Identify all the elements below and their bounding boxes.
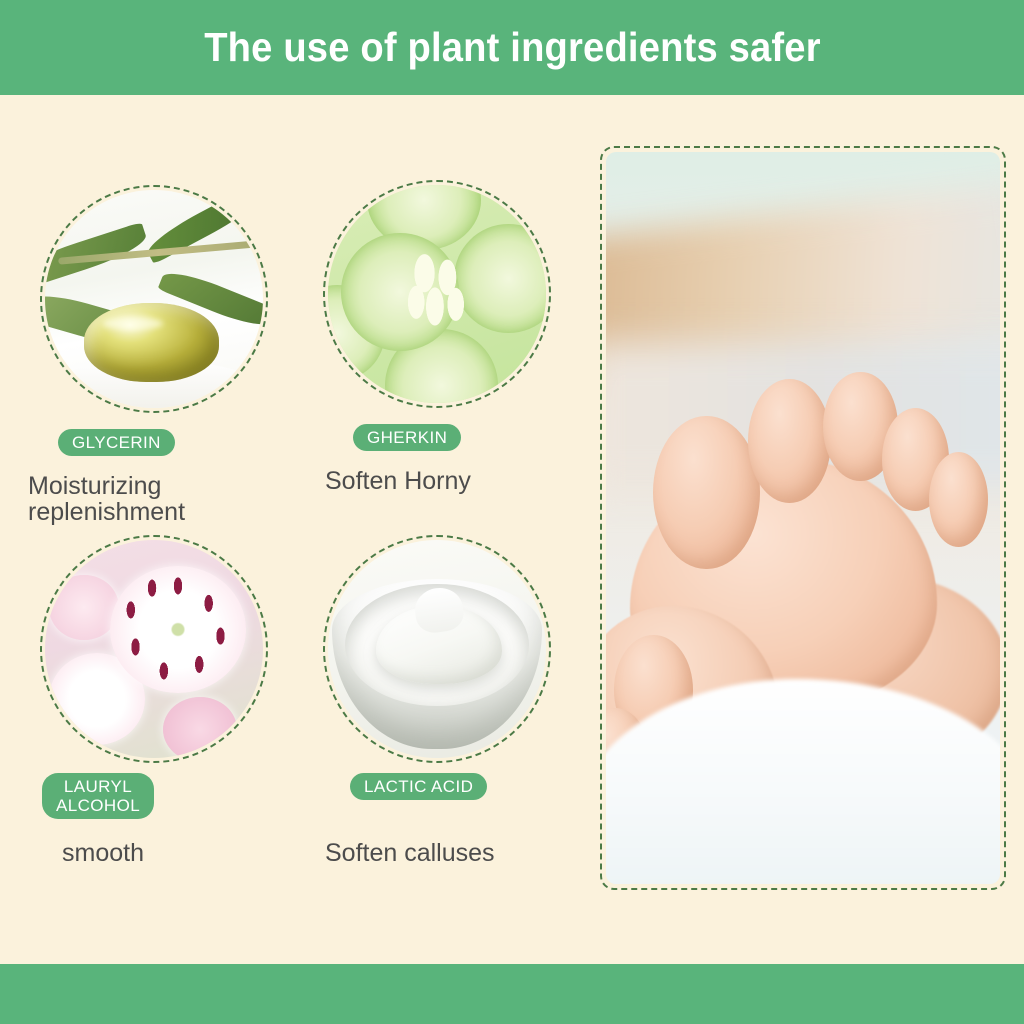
ingredient-grid: GLYCERIN Moisturizing replenishment GHER [0, 95, 590, 965]
cucumber-illustration [328, 185, 546, 403]
flower-bud-icon [163, 697, 237, 758]
cucumber-seeds [385, 242, 490, 347]
ingredient-badge-lactic-acid: LACTIC ACID [350, 773, 487, 800]
flower-illustration [45, 540, 263, 758]
ingredient-card-lactic-acid: LACTIC ACID Soften calluses [305, 535, 585, 885]
cucumber-slices-photo [328, 185, 546, 403]
flower-stamens [119, 575, 237, 684]
toe [929, 452, 988, 547]
bare-feet-photo [606, 152, 1000, 884]
ingredient-circle-gherkin [323, 180, 551, 408]
ingredient-card-glycerin: GLYCERIN Moisturizing replenishment [22, 185, 302, 535]
cream-bowl-photo [328, 540, 546, 758]
ingredient-caption-glycerin: Moisturizing replenishment [28, 473, 185, 525]
ingredient-card-lauryl-alcohol: LAURYL ALCOHOL smooth [22, 535, 302, 885]
header-band: The use of plant ingredients safer [0, 0, 1024, 95]
flower-bud-icon [49, 575, 119, 640]
ingredient-circle-glycerin [40, 185, 268, 413]
ingredient-caption-lauryl-alcohol: smooth [62, 840, 144, 866]
ingredient-caption-lactic-acid: Soften calluses [325, 840, 495, 866]
olive-fruit-icon [84, 303, 219, 381]
toe [748, 379, 831, 503]
footer-band [0, 964, 1024, 1024]
page-title: The use of plant ingredients safer [204, 27, 821, 68]
hero-photo-frame [600, 146, 1006, 890]
ingredient-badge-lauryl-alcohol: LAURYL ALCOHOL [42, 773, 154, 819]
infographic-page: The use of plant ingredients safer [0, 0, 1024, 1024]
toe [653, 416, 759, 570]
ingredient-caption-gherkin: Soften Horny [325, 468, 471, 494]
bedsheet [606, 679, 1000, 884]
mountain-laurel-flower-photo [45, 540, 263, 758]
ingredient-circle-lauryl-alcohol [40, 535, 268, 763]
olive-photo [45, 190, 263, 408]
ingredient-badge-glycerin: GLYCERIN [58, 429, 175, 456]
cream-bowl-illustration [328, 540, 546, 758]
olive-illustration [45, 190, 263, 408]
ingredient-badge-gherkin: GHERKIN [353, 424, 461, 451]
ingredient-circle-lactic-acid [323, 535, 551, 763]
ingredient-card-gherkin: GHERKIN Soften Horny [305, 180, 585, 530]
